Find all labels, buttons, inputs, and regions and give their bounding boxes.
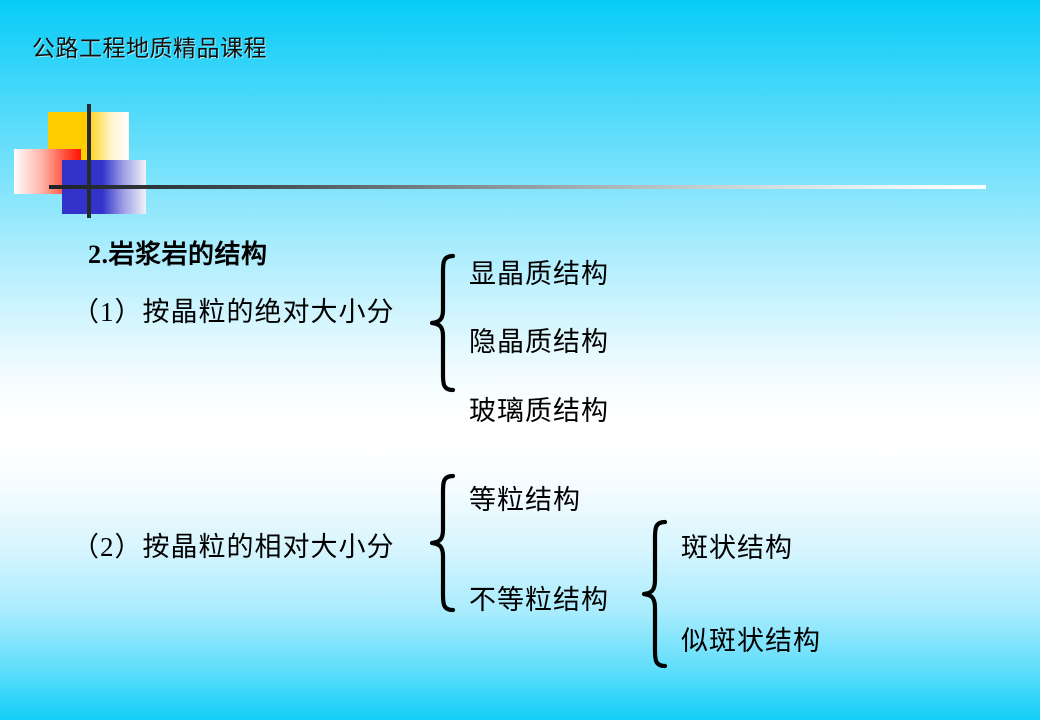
list-item: 玻璃质结构 [469,389,609,428]
brace-group-2-icon [428,472,458,614]
list-item: 显晶质结构 [469,252,609,291]
list-item: 斑状结构 [681,526,793,565]
list-item: 不等粒结构 [469,578,609,617]
outline-content: 2.岩浆岩的结构 （1）按晶粒的绝对大小分 显晶质结构 隐晶质结构 玻璃质结构 … [0,0,1040,720]
list-item: 似斑状结构 [681,619,821,658]
slide-canvas: 公路工程地质精品课程 2.岩浆岩的结构 （1）按晶粒的绝对大小分 显晶质结构 隐… [0,0,1040,720]
list-item: 隐晶质结构 [469,320,609,359]
list-item: 等粒结构 [469,478,581,517]
group-2-label: （2）按晶粒的相对大小分 [72,525,395,564]
group-1-label: （1）按晶粒的绝对大小分 [72,290,395,329]
brace-group-2-sub-icon [640,518,670,670]
brace-group-1-icon [428,252,458,394]
section-heading: 2.岩浆岩的结构 [88,234,268,271]
